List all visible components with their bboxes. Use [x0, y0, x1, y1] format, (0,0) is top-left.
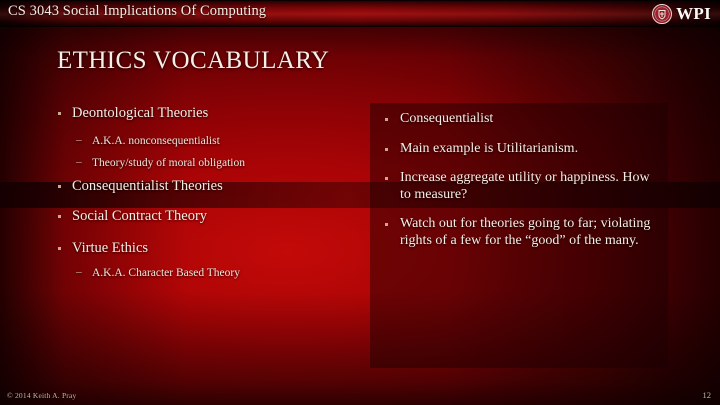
bullet-item: Deontological Theories [52, 105, 362, 122]
bullet-item: Watch out for theories going to far; vio… [380, 216, 658, 249]
bullet-text: Consequentialist [400, 111, 493, 126]
bullet-text: Increase aggregate utility or happiness.… [400, 170, 650, 202]
bullet-text: Theory/study of moral obligation [92, 157, 245, 169]
wpi-wordmark: WPI [676, 5, 711, 22]
left-bullet-list: Deontological Theories A.K.A. nonconsequ… [52, 105, 362, 288]
bullet-item: Social Contract Theory [52, 208, 362, 225]
bullet-text: Watch out for theories going to far; vio… [400, 216, 650, 248]
page-number: 12 [703, 390, 712, 400]
wpi-seal-icon [652, 4, 672, 24]
course-title: CS 3043 Social Implications Of Computing [8, 3, 266, 20]
sub-bullet-item: A.K.A. nonconsequentialist [52, 134, 362, 148]
right-content-panel: Consequentialist Main example is Utilita… [370, 103, 668, 368]
sub-bullet-item: A.K.A. Character Based Theory [52, 266, 362, 280]
right-bullet-list: Consequentialist Main example is Utilita… [380, 111, 658, 262]
bullet-text: Virtue Ethics [72, 240, 148, 256]
bullet-text: A.K.A. Character Based Theory [92, 267, 240, 279]
copyright-notice: © 2014 Keith A. Pray [7, 391, 77, 400]
bullet-item: Consequentialist [380, 111, 658, 128]
sub-bullet-item: Theory/study of moral obligation [52, 156, 362, 170]
bullet-item: Main example is Utilitarianism. [380, 141, 658, 158]
presentation-slide: CS 3043 Social Implications Of Computing… [0, 0, 720, 405]
bullet-item-highlighted: Consequentialist Theories [52, 178, 362, 195]
bullet-text: Main example is Utilitarianism. [400, 141, 578, 156]
wpi-logo: WPI [652, 2, 711, 25]
bullet-item: Virtue Ethics [52, 240, 362, 257]
bullet-text: Consequentialist Theories [72, 178, 223, 194]
bullet-text: Social Contract Theory [72, 208, 207, 224]
bullet-text: A.K.A. nonconsequentialist [92, 135, 220, 147]
slide-title: ETHICS VOCABULARY [57, 47, 329, 75]
bullet-item: Increase aggregate utility or happiness.… [380, 170, 658, 203]
bullet-text: Deontological Theories [72, 105, 208, 121]
